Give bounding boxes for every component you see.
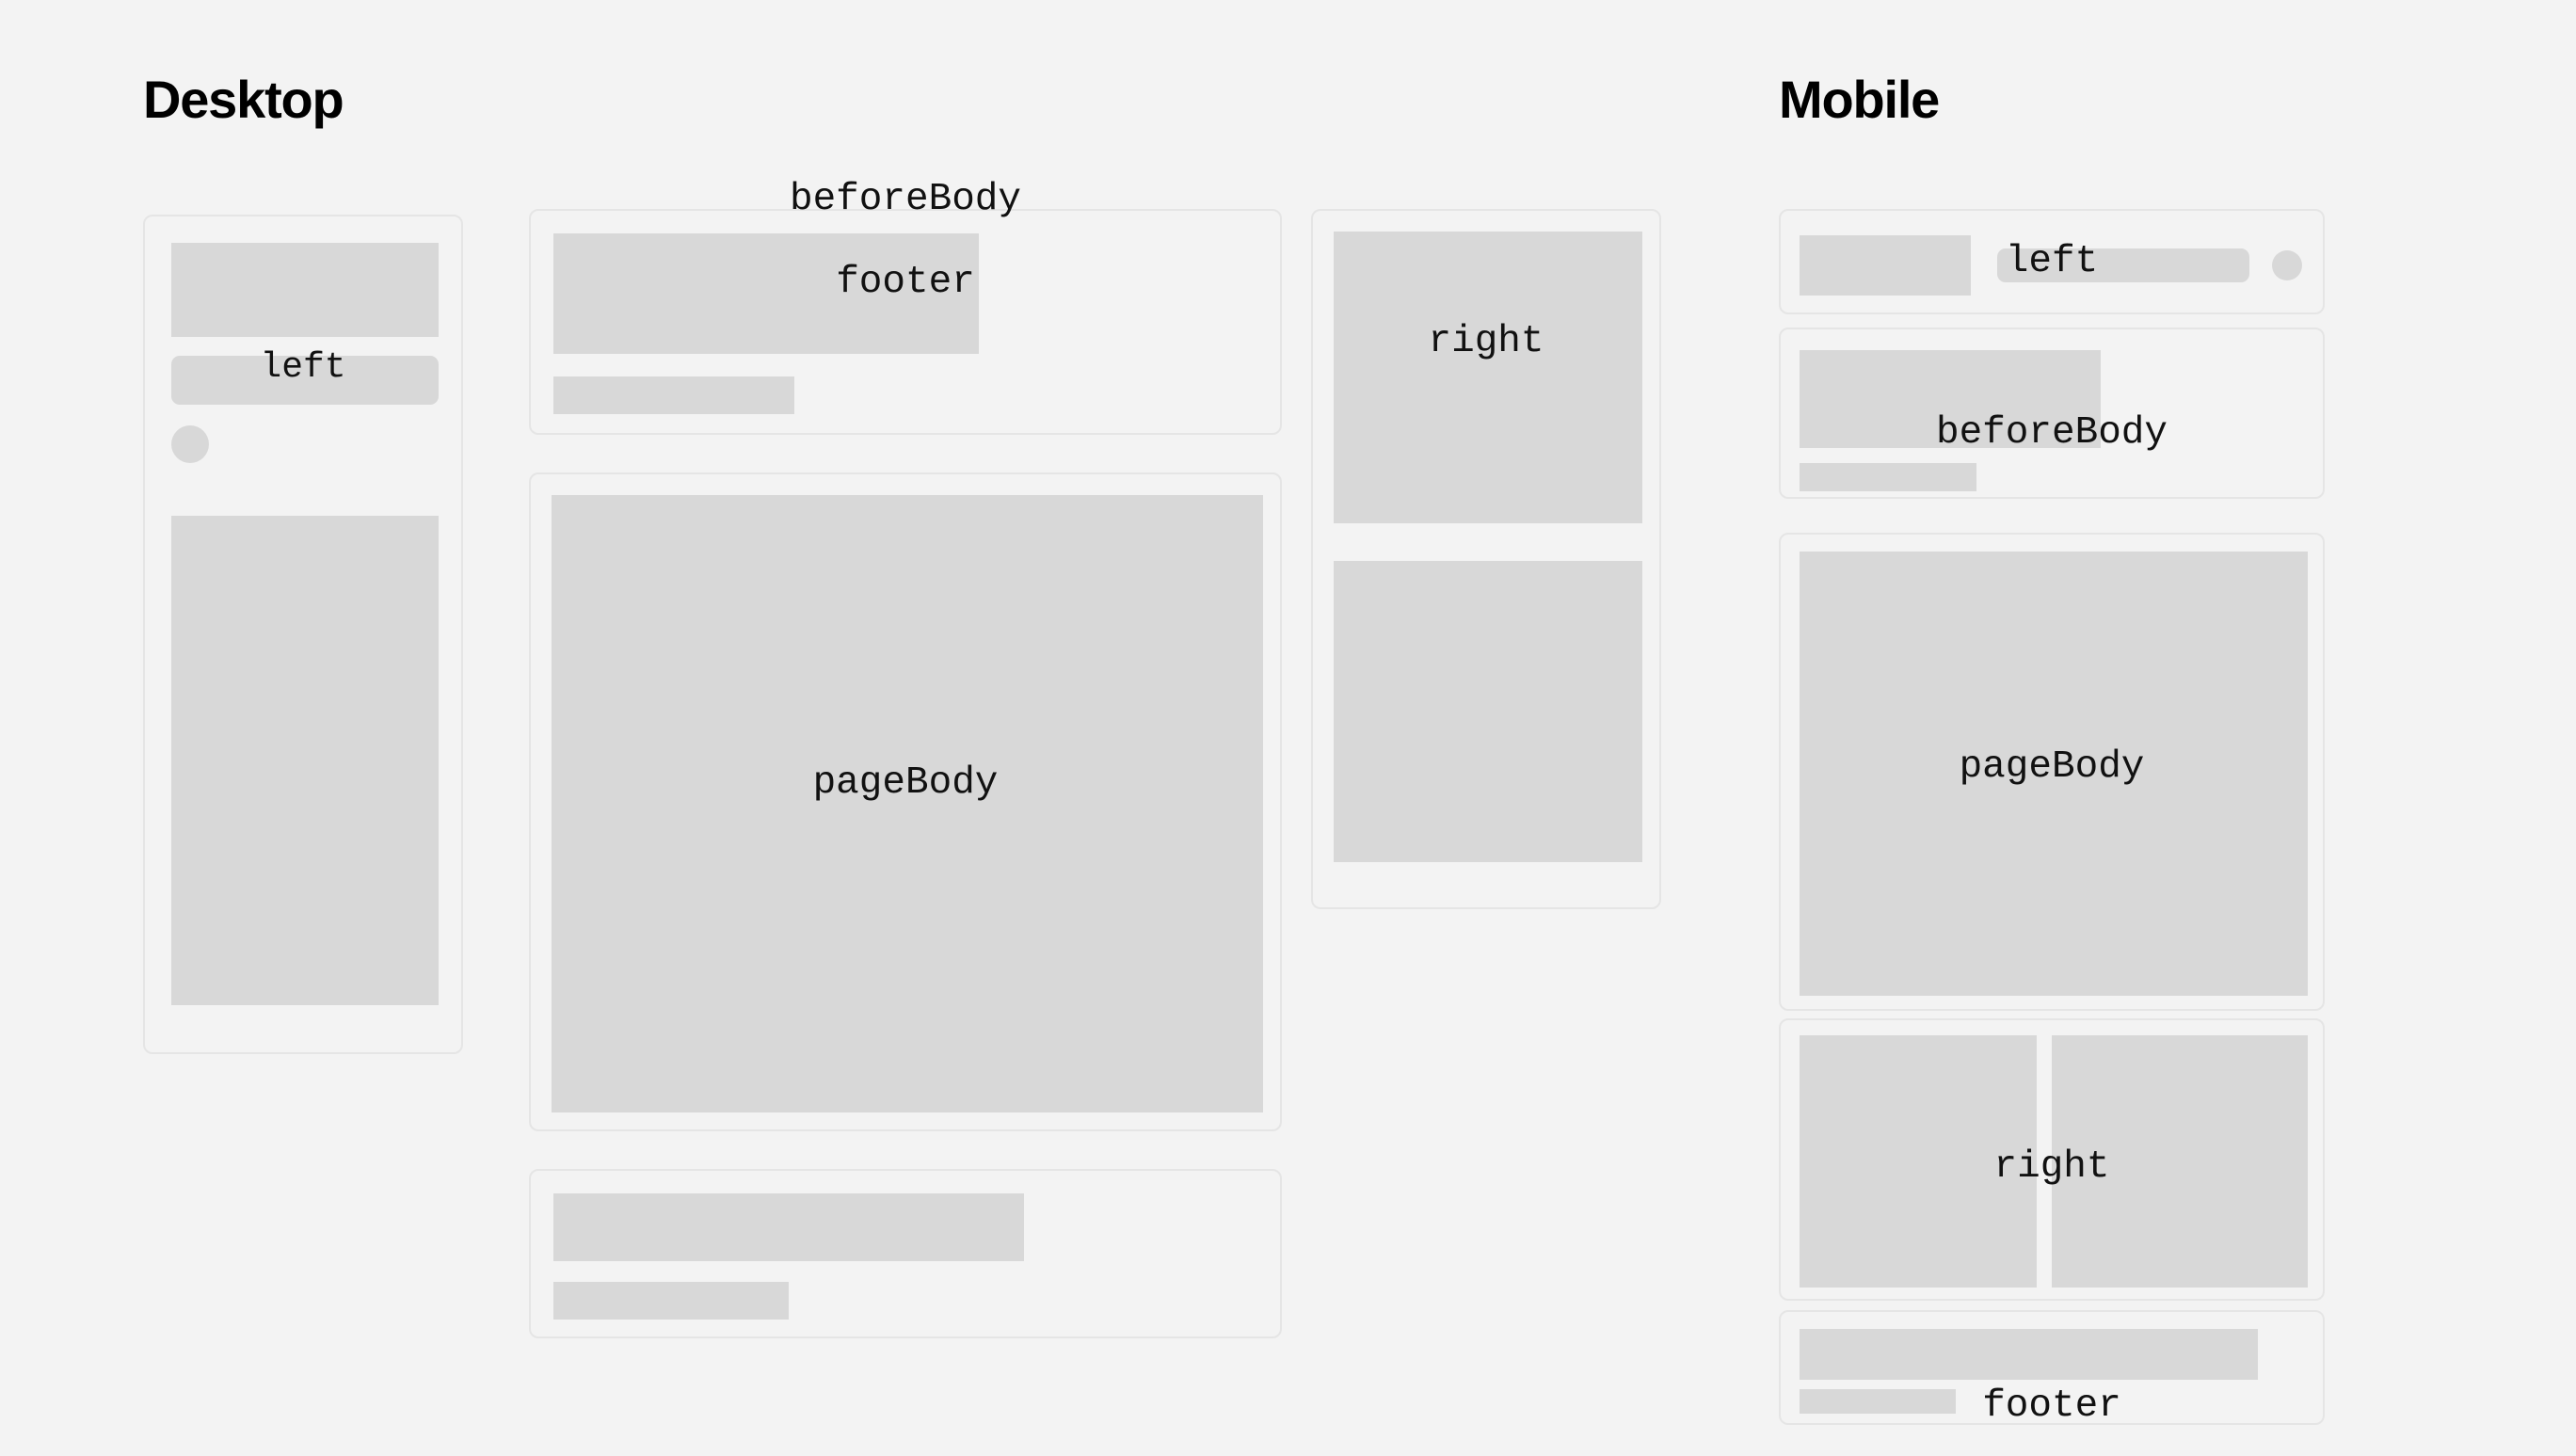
skeleton-bar xyxy=(171,356,439,405)
layout-preview-stage: Desktop Mobile left beforeBody pageBody … xyxy=(0,0,2576,1456)
mobile-slot-beforebody-panel[interactable] xyxy=(1779,328,2325,499)
desktop-slot-footer-panel[interactable] xyxy=(529,1169,1282,1338)
skeleton-block xyxy=(552,495,1263,1112)
desktop-section-title: Desktop xyxy=(143,73,344,126)
desktop-slot-left-panel[interactable] xyxy=(143,215,463,1054)
skeleton-avatar-circle xyxy=(171,425,209,463)
desktop-slot-right-panel[interactable] xyxy=(1311,209,1661,909)
skeleton-block xyxy=(1800,1329,2258,1380)
skeleton-block xyxy=(553,1193,1024,1261)
skeleton-block xyxy=(171,516,439,1005)
skeleton-block xyxy=(1334,232,1642,523)
skeleton-block xyxy=(1800,350,2101,448)
skeleton-bar xyxy=(1997,248,2249,282)
desktop-slot-pagebody-panel[interactable] xyxy=(529,472,1282,1131)
mobile-slot-pagebody-panel[interactable] xyxy=(1779,533,2325,1011)
mobile-slot-right-panel[interactable] xyxy=(1779,1018,2325,1301)
skeleton-block xyxy=(2052,1035,2308,1288)
skeleton-bar xyxy=(553,376,794,414)
skeleton-block xyxy=(1800,552,2308,996)
skeleton-block xyxy=(171,243,439,337)
skeleton-block xyxy=(1800,235,1971,296)
skeleton-block xyxy=(553,233,979,354)
skeleton-bar xyxy=(553,1282,789,1320)
skeleton-block xyxy=(1800,1035,2037,1288)
skeleton-bar xyxy=(1800,463,1976,491)
mobile-slot-footer-panel[interactable] xyxy=(1779,1310,2325,1425)
skeleton-bar xyxy=(1800,1389,1956,1414)
skeleton-avatar-circle xyxy=(2272,250,2302,280)
mobile-slot-left-panel[interactable] xyxy=(1779,209,2325,314)
skeleton-block xyxy=(1334,561,1642,862)
mobile-section-title: Mobile xyxy=(1779,73,1939,126)
desktop-slot-beforebody-panel[interactable] xyxy=(529,209,1282,435)
